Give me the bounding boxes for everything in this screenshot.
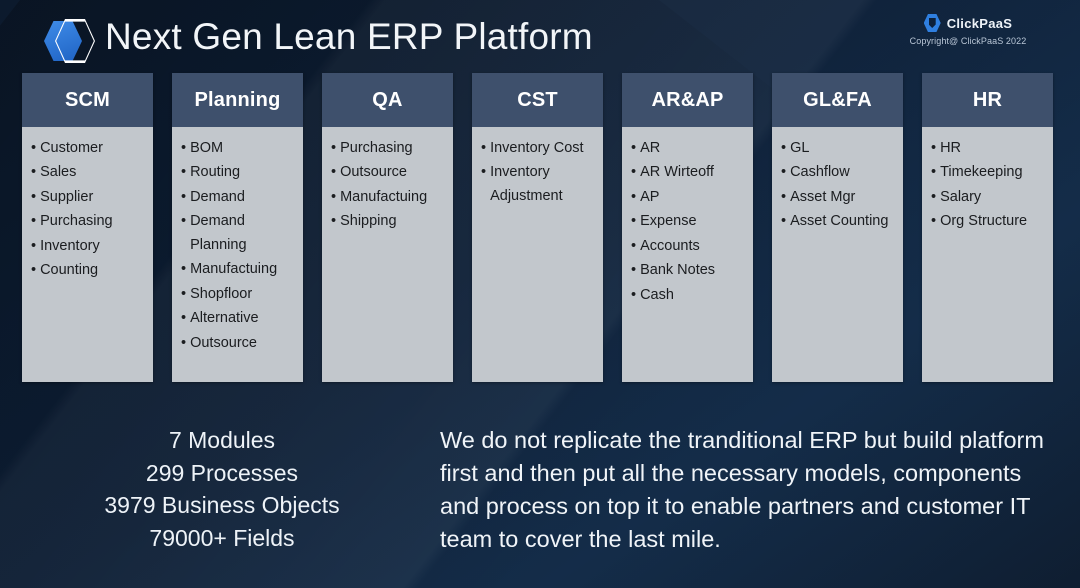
bullet-dot-icon: • — [631, 137, 636, 160]
module-list-item[interactable]: •Demand Planning — [181, 210, 296, 257]
bullet-dot-icon: • — [181, 283, 186, 306]
module-list-item[interactable]: •Shopfloor — [181, 283, 296, 306]
stat-line: 7 Modules — [22, 424, 422, 457]
module-list-item[interactable]: •Routing — [181, 161, 296, 184]
module-list-item[interactable]: •Outsource — [181, 332, 296, 355]
module-list-item-label: Purchasing — [40, 210, 146, 233]
module-list-item-label: Inventory Adjustment — [490, 161, 596, 208]
module-list-item-label: Shopfloor — [190, 283, 296, 306]
module-card-header: GL&FA — [772, 73, 903, 127]
bullet-dot-icon: • — [331, 137, 336, 160]
bullet-dot-icon: • — [31, 161, 36, 184]
module-list-item[interactable]: •Supplier — [31, 186, 146, 209]
module-list-item[interactable]: •Manufactuing — [331, 186, 446, 209]
module-card[interactable]: CST•Inventory Cost•Inventory Adjustment — [472, 73, 603, 382]
module-card-header: HR — [922, 73, 1053, 127]
module-list-item-label: Manufactuing — [190, 258, 296, 281]
module-list-item[interactable]: •Sales — [31, 161, 146, 184]
module-card-title: CST — [517, 90, 558, 110]
module-list-item-label: Alternative — [190, 307, 296, 330]
module-list-item-label: Outsource — [190, 332, 296, 355]
bullet-dot-icon: • — [331, 161, 336, 184]
module-list-item-label: Customer — [40, 137, 146, 160]
module-list-item-label: Timekeeping — [940, 161, 1046, 184]
bullet-dot-icon: • — [781, 210, 786, 233]
module-list-item[interactable]: •Cash — [631, 284, 746, 307]
bullet-dot-icon: • — [631, 284, 636, 307]
module-list-item[interactable]: •Bank Notes — [631, 259, 746, 282]
bullet-dot-icon: • — [31, 186, 36, 209]
module-card-header: Planning — [172, 73, 303, 127]
module-list-item-label: Org Structure — [940, 210, 1046, 233]
module-list-item-label: GL — [790, 137, 896, 160]
module-list-item-label: Routing — [190, 161, 296, 184]
stat-line: 3979 Business Objects — [22, 489, 422, 522]
bullet-dot-icon: • — [31, 137, 36, 160]
module-list-item-label: AP — [640, 186, 746, 209]
bullet-dot-icon: • — [781, 137, 786, 160]
bullet-dot-icon: • — [181, 137, 186, 160]
module-list-item[interactable]: •GL — [781, 137, 896, 160]
bullet-dot-icon: • — [31, 235, 36, 258]
module-list-item[interactable]: •AR — [631, 137, 746, 160]
module-list-item-label: HR — [940, 137, 1046, 160]
hexagon-logo-icon — [44, 19, 96, 63]
module-list-item-label: Demand — [190, 186, 296, 209]
module-cards-row: SCM•Customer•Sales•Supplier•Purchasing•I… — [22, 73, 1059, 382]
bullet-dot-icon: • — [331, 186, 336, 209]
module-card[interactable]: HR•HR•Timekeeping•Salary•Org Structure — [922, 73, 1053, 382]
bullet-dot-icon: • — [631, 186, 636, 209]
module-list-item[interactable]: •AP — [631, 186, 746, 209]
stat-line: 79000+ Fields — [22, 522, 422, 555]
module-list-item[interactable]: •Purchasing — [331, 137, 446, 160]
module-list-item[interactable]: •Expense — [631, 210, 746, 233]
bullet-dot-icon: • — [781, 161, 786, 184]
bullet-dot-icon: • — [631, 161, 636, 184]
module-list-item-label: Bank Notes — [640, 259, 746, 282]
module-card[interactable]: GL&FA•GL•Cashflow•Asset Mgr•Asset Counti… — [772, 73, 903, 382]
bullet-dot-icon: • — [931, 161, 936, 184]
module-list-item[interactable]: •Shipping — [331, 210, 446, 233]
module-list-item[interactable]: •Alternative — [181, 307, 296, 330]
module-card-header: QA — [322, 73, 453, 127]
description-paragraph: We do not replicate the tranditional ERP… — [440, 424, 1055, 556]
bullet-dot-icon: • — [481, 161, 486, 208]
module-list-item-label: Demand Planning — [190, 210, 296, 257]
bullet-dot-icon: • — [931, 186, 936, 209]
module-list-item-label: Salary — [940, 186, 1046, 209]
module-list-item-label: Accounts — [640, 235, 746, 258]
module-list-item-label: Counting — [40, 259, 146, 282]
page-title: Next Gen Lean ERP Platform — [105, 16, 593, 58]
module-list-item-label: Cashflow — [790, 161, 896, 184]
module-list-item[interactable]: •Customer — [31, 137, 146, 160]
bullet-dot-icon: • — [781, 186, 786, 209]
slide-header: Next Gen Lean ERP Platform ClickPaaS Cop… — [0, 0, 1080, 70]
module-card-body: •Customer•Sales•Supplier•Purchasing•Inve… — [22, 127, 153, 382]
module-card-body: •Purchasing•Outsource•Manufactuing•Shipp… — [322, 127, 453, 382]
module-list-item[interactable]: •Asset Mgr — [781, 186, 896, 209]
bullet-dot-icon: • — [631, 210, 636, 233]
module-list-item[interactable]: •Cashflow — [781, 161, 896, 184]
module-card-body: •AR•AR Wirteoff•AP•Expense•Accounts•Bank… — [622, 127, 753, 382]
module-card-title: SCM — [65, 90, 110, 110]
module-list-item-label: Cash — [640, 284, 746, 307]
module-list-item[interactable]: •Accounts — [631, 235, 746, 258]
module-list-item[interactable]: •Counting — [31, 259, 146, 282]
bullet-dot-icon: • — [481, 137, 486, 160]
module-card[interactable]: QA•Purchasing•Outsource•Manufactuing•Shi… — [322, 73, 453, 382]
module-list-item-label: Manufactuing — [340, 186, 446, 209]
bullet-dot-icon: • — [31, 210, 36, 233]
module-list-item[interactable]: •Outsource — [331, 161, 446, 184]
module-card[interactable]: SCM•Customer•Sales•Supplier•Purchasing•I… — [22, 73, 153, 382]
module-list-item-label: Inventory Cost — [490, 137, 596, 160]
bullet-dot-icon: • — [181, 258, 186, 281]
module-list-item-label: Purchasing — [340, 137, 446, 160]
module-list-item-label: Shipping — [340, 210, 446, 233]
module-card-title: AR&AP — [651, 90, 723, 110]
copyright-text: Copyright@ ClickPaaS 2022 — [878, 36, 1058, 46]
brand-row: ClickPaaS — [878, 14, 1058, 32]
module-list-item[interactable]: •Purchasing — [31, 210, 146, 233]
module-list-item-label: Outsource — [340, 161, 446, 184]
module-list-item[interactable]: •Manufactuing — [181, 258, 296, 281]
module-card-title: GL&FA — [803, 90, 872, 110]
bullet-dot-icon: • — [181, 307, 186, 330]
module-card-body: •Inventory Cost•Inventory Adjustment — [472, 127, 603, 382]
module-list-item-label: Supplier — [40, 186, 146, 209]
module-list-item-label: Sales — [40, 161, 146, 184]
module-list-item[interactable]: •Demand — [181, 186, 296, 209]
module-list-item[interactable]: •Inventory Cost — [481, 137, 596, 160]
module-list-item-label: AR — [640, 137, 746, 160]
module-list-item[interactable]: •Timekeeping — [931, 161, 1046, 184]
bullet-dot-icon: • — [181, 186, 186, 209]
module-card[interactable]: AR&AP•AR•AR Wirteoff•AP•Expense•Accounts… — [622, 73, 753, 382]
module-card-title: HR — [973, 90, 1002, 110]
module-card-title: Planning — [194, 90, 280, 110]
module-list-item[interactable]: •Asset Counting — [781, 210, 896, 233]
bullet-dot-icon: • — [181, 161, 186, 184]
module-card-header: SCM — [22, 73, 153, 127]
module-card-header: CST — [472, 73, 603, 127]
module-list-item[interactable]: •Org Structure — [931, 210, 1046, 233]
stats-block: 7 Modules299 Processes3979 Business Obje… — [22, 424, 422, 555]
bullet-dot-icon: • — [631, 259, 636, 282]
module-list-item[interactable]: •Inventory — [31, 235, 146, 258]
module-card-body: •GL•Cashflow•Asset Mgr•Asset Counting — [772, 127, 903, 382]
clickpaas-hexagon-icon — [924, 14, 941, 32]
module-list-item-label: Inventory — [40, 235, 146, 258]
slide-canvas: Next Gen Lean ERP Platform ClickPaaS Cop… — [0, 0, 1080, 588]
module-card-body: •HR•Timekeeping•Salary•Org Structure — [922, 127, 1053, 382]
module-list-item[interactable]: •Inventory Adjustment — [481, 161, 596, 208]
bullet-dot-icon: • — [181, 332, 186, 355]
module-list-item[interactable]: •AR Wirteoff — [631, 161, 746, 184]
bullet-dot-icon: • — [331, 210, 336, 233]
bullet-dot-icon: • — [931, 137, 936, 160]
bullet-dot-icon: • — [181, 210, 186, 257]
module-card-body: •BOM•Routing•Demand•Demand Planning•Manu… — [172, 127, 303, 382]
bullet-dot-icon: • — [931, 210, 936, 233]
module-list-item-label: BOM — [190, 137, 296, 160]
module-list-item-label: Asset Counting — [790, 210, 896, 233]
module-list-item-label: Asset Mgr — [790, 186, 896, 209]
module-list-item-label: Expense — [640, 210, 746, 233]
module-card-title: QA — [372, 90, 402, 110]
module-card[interactable]: Planning•BOM•Routing•Demand•Demand Plann… — [172, 73, 303, 382]
stat-line: 299 Processes — [22, 457, 422, 490]
brand-block: ClickPaaS Copyright@ ClickPaaS 2022 — [878, 14, 1058, 46]
module-card-header: AR&AP — [622, 73, 753, 127]
module-list-item[interactable]: •BOM — [181, 137, 296, 160]
module-list-item[interactable]: •Salary — [931, 186, 1046, 209]
bullet-dot-icon: • — [31, 259, 36, 282]
brand-name: ClickPaaS — [947, 16, 1013, 31]
bullet-dot-icon: • — [631, 235, 636, 258]
module-list-item[interactable]: •HR — [931, 137, 1046, 160]
module-list-item-label: AR Wirteoff — [640, 161, 746, 184]
hexagon-solid-shape — [44, 21, 82, 61]
